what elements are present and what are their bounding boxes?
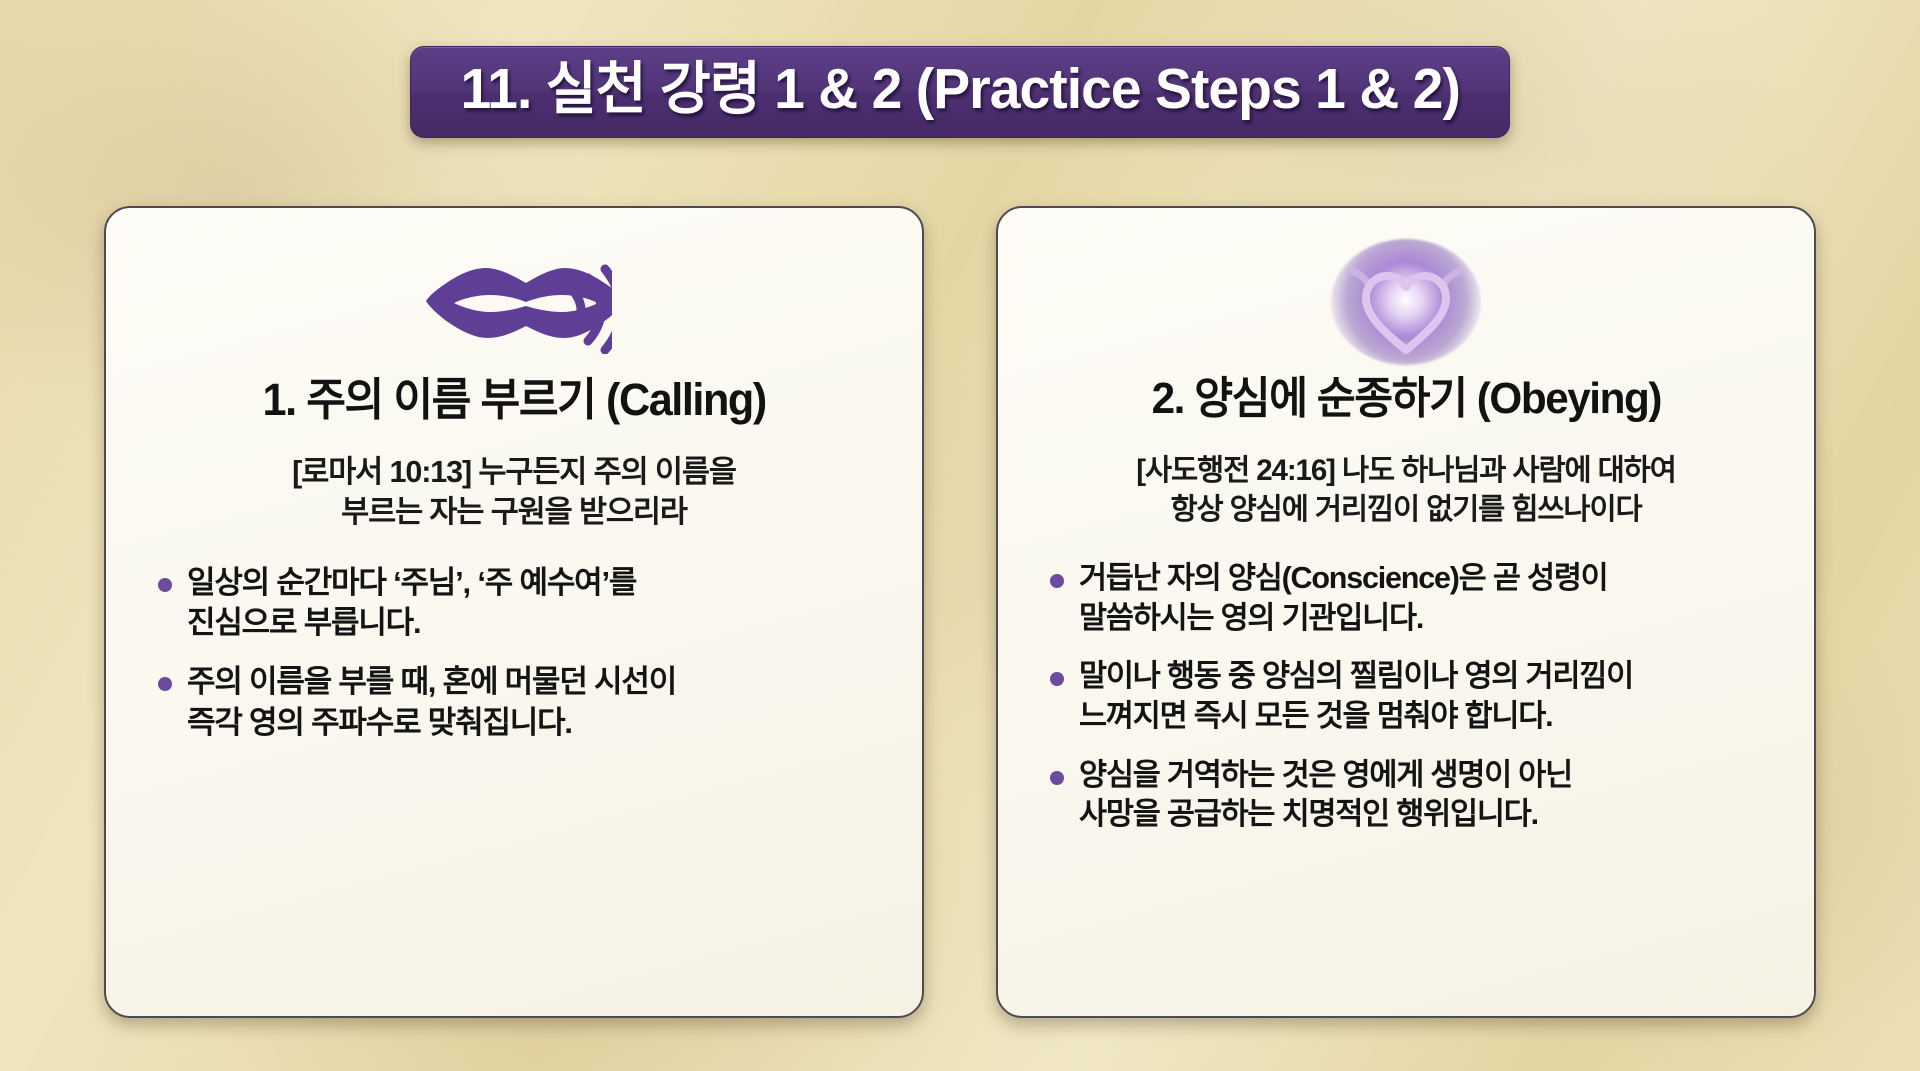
bullet-line: 말씀하시는 영의 기관입니다.	[1079, 599, 1608, 639]
list-item: 일상의 순간마다 ‘주님’, ‘주 예수여’를 진심으로 부릅니다.	[158, 563, 888, 644]
page-title: 11. 실천 강령 1 & 2 (Practice Steps 1 & 2)	[460, 57, 1459, 123]
card-1-bullets: 일상의 순간마다 ‘주님’, ‘주 예수여’를 진심으로 부릅니다. 주의 이름…	[140, 563, 888, 743]
scripture-line: 부르는 자는 구원을 받으리라	[292, 492, 736, 533]
card-1-heading: 1. 주의 이름 부르기 (Calling)	[262, 374, 765, 426]
bullet-dot-icon	[1050, 672, 1064, 686]
bullet-dot-icon	[158, 677, 172, 691]
slide-title-banner-wrap: 11. 실천 강령 1 & 2 (Practice Steps 1 & 2)	[0, 46, 1920, 138]
bullet-text: 거듭난 자의 양심(Conscience)은 곧 성령이 말씀하시는 영의 기관…	[1079, 559, 1608, 638]
card-1-icon-area	[140, 234, 888, 370]
bullet-text: 일상의 순간마다 ‘주님’, ‘주 예수여’를 진심으로 부릅니다.	[187, 563, 636, 644]
bullet-text: 양심을 거역하는 것은 영에게 생명이 아닌 사망을 공급하는 치명적인 행위입…	[1079, 756, 1572, 835]
bullet-line: 주의 이름을 부를 때, 혼에 머물던 시선이	[187, 662, 676, 702]
cards-container: 1. 주의 이름 부르기 (Calling) [로마서 10:13] 누구든지 …	[0, 206, 1920, 1018]
list-item: 거듭난 자의 양심(Conscience)은 곧 성령이 말씀하시는 영의 기관…	[1050, 559, 1780, 638]
bullet-dot-icon	[158, 578, 172, 592]
slide-title-banner: 11. 실천 강령 1 & 2 (Practice Steps 1 & 2)	[410, 46, 1510, 138]
glowing-heart-icon	[1331, 239, 1481, 365]
bullet-line: 양심을 거역하는 것은 영에게 생명이 아닌	[1079, 756, 1572, 796]
list-item: 양심을 거역하는 것은 영에게 생명이 아닌 사망을 공급하는 치명적인 행위입…	[1050, 756, 1780, 835]
bullet-line: 진심으로 부릅니다.	[187, 603, 636, 643]
bullet-line: 말이나 행동 중 양심의 찔림이나 영의 거리낌이	[1079, 657, 1633, 697]
practice-step-card-1: 1. 주의 이름 부르기 (Calling) [로마서 10:13] 누구든지 …	[104, 206, 924, 1018]
bullet-dot-icon	[1050, 771, 1064, 785]
card-1-scripture: [로마서 10:13] 누구든지 주의 이름을 부르는 자는 구원을 받으리라	[292, 452, 736, 533]
bullet-text: 주의 이름을 부를 때, 혼에 머물던 시선이 즉각 영의 주파수로 맞춰집니다…	[187, 662, 676, 743]
bullet-dot-icon	[1050, 574, 1064, 588]
practice-step-card-2: 2. 양심에 순종하기 (Obeying) [사도행전 24:16] 나도 하나…	[996, 206, 1816, 1018]
bullet-line: 일상의 순간마다 ‘주님’, ‘주 예수여’를	[187, 563, 636, 603]
list-item: 말이나 행동 중 양심의 찔림이나 영의 거리낌이 느껴지면 즉시 모든 것을 …	[1050, 657, 1780, 736]
card-2-bullets: 거듭난 자의 양심(Conscience)은 곧 성령이 말씀하시는 영의 기관…	[1032, 559, 1780, 835]
scripture-line: 항상 양심에 거리낌이 없기를 힘쓰나이다	[1136, 490, 1676, 529]
speaking-lips-icon	[416, 250, 612, 354]
scripture-line: [사도행전 24:16] 나도 하나님과 사람에 대하여	[1136, 451, 1676, 490]
bullet-line: 거듭난 자의 양심(Conscience)은 곧 성령이	[1079, 559, 1608, 599]
scripture-line: [로마서 10:13] 누구든지 주의 이름을	[292, 452, 736, 493]
bullet-text: 말이나 행동 중 양심의 찔림이나 영의 거리낌이 느껴지면 즉시 모든 것을 …	[1079, 657, 1633, 736]
card-2-heading: 2. 양심에 순종하기 (Obeying)	[1151, 374, 1660, 425]
card-2-icon-area	[1032, 234, 1780, 370]
card-2-scripture: [사도행전 24:16] 나도 하나님과 사람에 대하여 항상 양심에 거리낌이…	[1136, 451, 1676, 529]
bullet-line: 느껴지면 즉시 모든 것을 멈춰야 합니다.	[1079, 697, 1633, 737]
list-item: 주의 이름을 부를 때, 혼에 머물던 시선이 즉각 영의 주파수로 맞춰집니다…	[158, 662, 888, 743]
bullet-line: 사망을 공급하는 치명적인 행위입니다.	[1079, 795, 1572, 835]
bullet-line: 즉각 영의 주파수로 맞춰집니다.	[187, 703, 676, 743]
